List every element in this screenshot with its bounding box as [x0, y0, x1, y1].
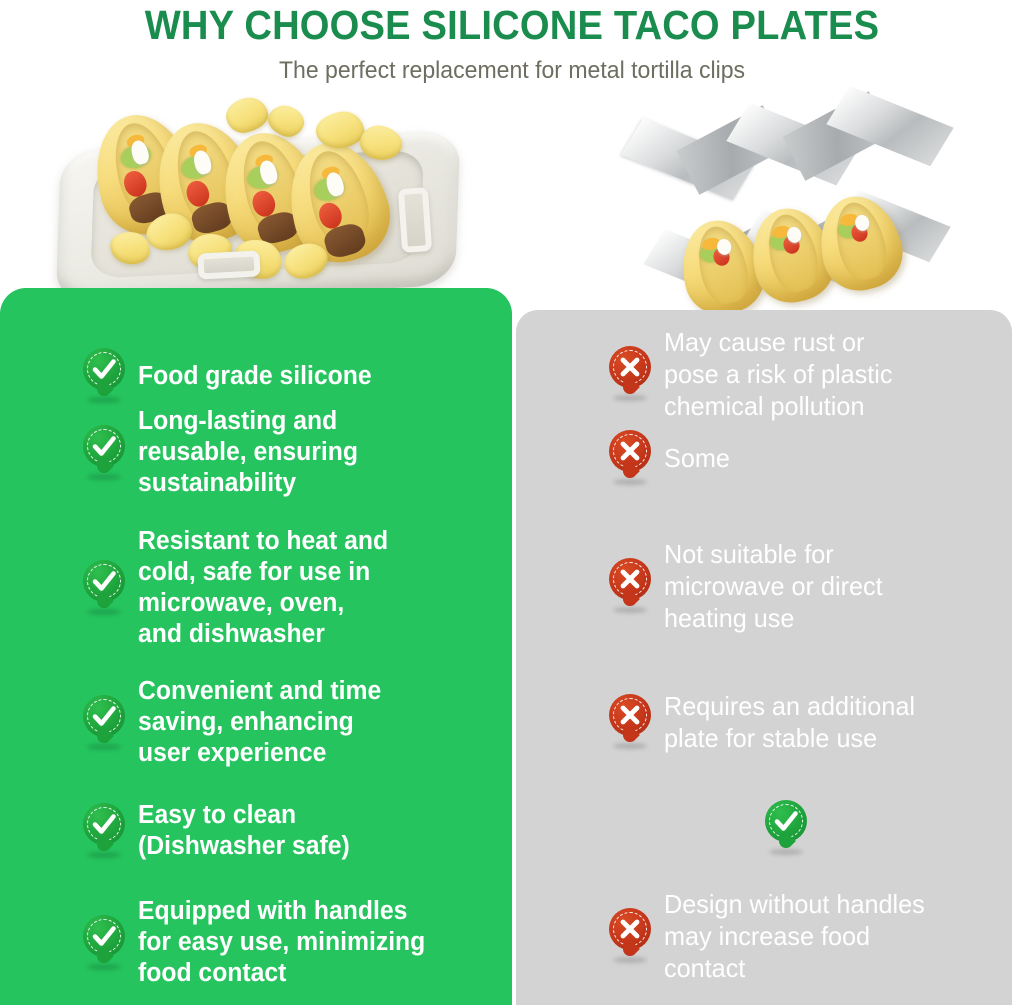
check-icon: [82, 915, 126, 971]
list-item-label: Not suitable for microwave or direct hea…: [664, 538, 883, 634]
list-item: Not suitable for microwave or direct hea…: [608, 538, 889, 634]
list-item-label: Long-lasting and reusable, ensuring sust…: [138, 406, 358, 499]
header: WHY CHOOSE SILICONE TACO PLATES The perf…: [0, 0, 1024, 86]
list-item: Long-lasting and reusable, ensuring sust…: [82, 406, 365, 499]
list-item-label: Design without handles may increase food…: [664, 888, 925, 984]
plate-handle-side: [398, 187, 432, 253]
cross-icon: [608, 694, 652, 750]
silicone-taco-plate-photo: [48, 92, 468, 304]
metal-taco-holder-filled-photo: [648, 192, 948, 314]
list-item-label: Some: [664, 442, 730, 474]
list-item-label: Resistant to heat and cold, safe for use…: [138, 526, 388, 650]
metal-taco-holder-photo: [622, 96, 952, 192]
check-icon: [82, 695, 126, 751]
product-photos: [0, 88, 1024, 318]
list-item: Design without handles may increase food…: [608, 888, 933, 984]
page-title: WHY CHOOSE SILICONE TACO PLATES: [36, 0, 988, 47]
cross-icon: [608, 558, 652, 614]
cross-icon: [608, 908, 652, 964]
list-item: Requires an additional plate for stable …: [608, 690, 923, 754]
list-item-label: May cause rust or pose a risk of plastic…: [664, 326, 892, 422]
check-icon: [82, 560, 126, 616]
list-item-label: Convenient and time saving, enhancing us…: [138, 676, 381, 769]
check-icon: [764, 800, 808, 856]
metal-cons-panel: May cause rust or pose a risk of plastic…: [516, 310, 1012, 1005]
list-item: Some: [608, 430, 732, 486]
list-item: Food grade silicone: [82, 348, 379, 404]
check-icon: [82, 425, 126, 481]
pros-list: Food grade silicone Long-lasting and reu…: [0, 288, 512, 1005]
list-item: Resistant to heat and cold, safe for use…: [82, 526, 396, 650]
infographic-page: WHY CHOOSE SILICONE TACO PLATES The perf…: [0, 0, 1024, 1005]
plate-handle-front: [197, 250, 260, 279]
check-icon: [82, 348, 126, 404]
check-icon: [82, 803, 126, 859]
list-item-label: Easy to clean (Dishwasher safe): [138, 800, 350, 862]
list-item-label: Requires an additional plate for stable …: [664, 690, 915, 754]
list-item: May cause rust or pose a risk of plastic…: [608, 326, 900, 422]
list-item: Convenient and time saving, enhancing us…: [82, 676, 389, 769]
list-item-label: Equipped with handles for easy use, mini…: [138, 896, 425, 989]
cons-list: May cause rust or pose a risk of plastic…: [516, 310, 1012, 1005]
potato-chip: [223, 94, 271, 136]
list-item-label: Food grade silicone: [138, 361, 372, 392]
page-subtitle: The perfect replacement for metal tortil…: [20, 47, 1003, 86]
list-item: Equipped with handles for easy use, mini…: [82, 896, 434, 989]
cross-icon: [608, 430, 652, 486]
cross-icon: [608, 346, 652, 402]
silicone-pros-panel: Food grade silicone Long-lasting and reu…: [0, 288, 512, 1005]
list-item: Easy to clean (Dishwasher safe): [82, 800, 356, 862]
